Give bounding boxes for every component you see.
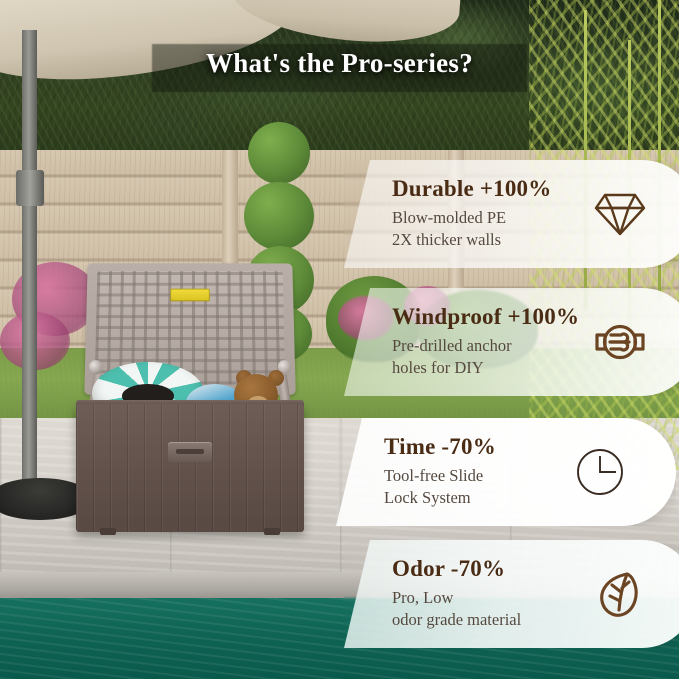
feature-card-text: Durable +100% Blow-molded PE 2X thicker … (344, 176, 551, 251)
feature-line-1: Tool-free Slide (384, 465, 496, 487)
feature-card-text: Odor -70% Pro, Low odor grade material (344, 556, 521, 631)
deck-box-foot (100, 528, 116, 535)
feature-line-2: holes for DIY (392, 357, 579, 379)
feature-line-1: Pre-drilled anchor (392, 335, 579, 357)
feature-line-2: odor grade material (392, 609, 521, 631)
feature-title: Odor -70% (392, 556, 521, 581)
deck-box-body (76, 404, 304, 532)
clock-icon (572, 444, 628, 500)
feature-card-durable[interactable]: Durable +100% Blow-molded PE 2X thicker … (344, 160, 679, 268)
infographic-scene: What's the Pro-series? Durable +100% Blo… (0, 0, 679, 679)
feature-title: Durable +100% (392, 176, 551, 201)
feature-card-windproof[interactable]: Windproof +100% Pre-drilled anchor holes… (344, 288, 679, 396)
feature-card-time[interactable]: Time -70% Tool-free Slide Lock System (336, 418, 676, 526)
feature-card-text: Time -70% Tool-free Slide Lock System (336, 434, 496, 509)
feature-card-odor[interactable]: Odor -70% Pro, Low odor grade material (344, 540, 679, 648)
deck-box-foot (264, 528, 280, 535)
feature-card-text: Windproof +100% Pre-drilled anchor holes… (344, 304, 579, 379)
umbrella-tilt-joint (16, 170, 44, 206)
feature-line-1: Blow-molded PE (392, 207, 551, 229)
feature-title: Time -70% (384, 434, 496, 459)
feature-line-2: Lock System (384, 487, 496, 509)
topiary-ball (244, 182, 314, 250)
feature-line-1: Pro, Low (392, 587, 521, 609)
slide-lock-latch (168, 442, 212, 462)
resin-deck-box (76, 262, 304, 540)
leaf-icon (592, 566, 648, 622)
umbrella-base (0, 478, 88, 520)
umbrella-pole (22, 30, 37, 490)
feature-title: Windproof +100% (392, 304, 579, 329)
feature-line-2: 2X thicker walls (392, 229, 551, 251)
yellow-warning-sticker (170, 289, 210, 302)
page-title: What's the Pro-series? (0, 48, 679, 79)
wind-circle-icon (592, 314, 648, 370)
topiary-ball (248, 122, 310, 184)
diamond-icon (592, 186, 648, 242)
